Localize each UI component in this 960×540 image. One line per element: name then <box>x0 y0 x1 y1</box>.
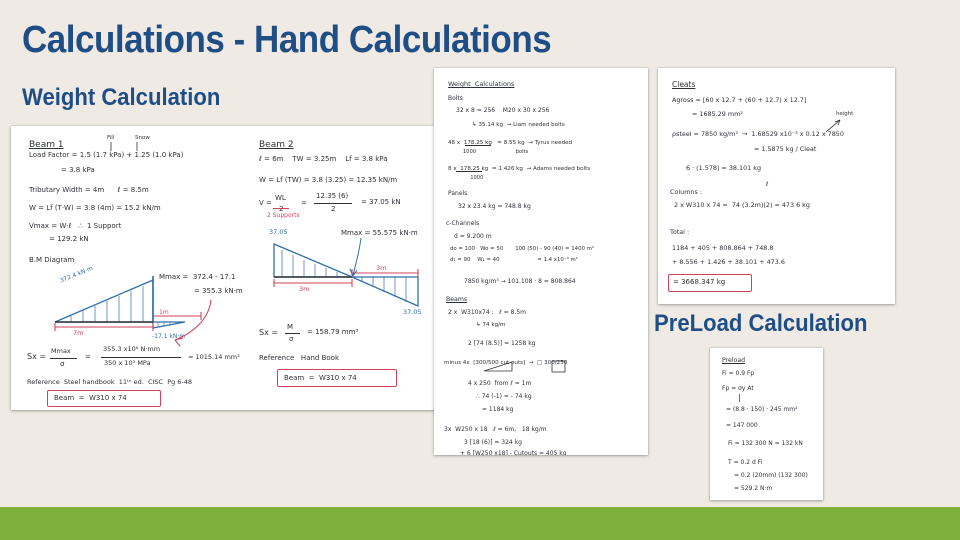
total-line-1: + 8.556 + 1.426 + 38.101 + 473.6 <box>672 258 785 266</box>
weight-bolts-line-5: 1000 <box>457 175 483 181</box>
weight-beams-line-7: 3x W250 x 18 ℓ = 6m, 18 kg/m <box>444 426 547 433</box>
preload-red-marker <box>739 394 740 402</box>
beam2-v-equals: = <box>301 199 307 207</box>
beam1-sx-fraction-bar-2 <box>101 357 181 358</box>
weight-cchannels-title: c-Channels <box>446 220 479 227</box>
beam-calculations-sheet[interactable]: Beam 1 Fill Snow Load Factor = 1.5 (1.7 … <box>11 126 470 410</box>
weight-panels-title: Panels <box>448 190 467 197</box>
total-heading: Total : <box>670 228 689 236</box>
weight-bolts-frac-bar-1 <box>465 145 491 146</box>
section-heading-weight: Weight Calculation <box>22 84 220 112</box>
beam2-boxed-result: Beam = W310 x 74 <box>284 374 357 382</box>
cleats-and-totals-sheet[interactable]: Cleats Agross = [60 x 12.7 + (60 + 12.7)… <box>658 68 895 304</box>
footer-band <box>0 507 960 540</box>
page-title: Calculations - Hand Calculations <box>22 18 551 62</box>
beam1-sx-label: Sx = <box>27 352 46 361</box>
beam2-sx-den: σ <box>289 335 293 343</box>
beam2-sx-label: Sx = <box>259 328 278 337</box>
beam1-sx-num2: 355.3 x10⁶ N·mm <box>103 345 160 353</box>
beam1-annot-fill: Fill <box>107 135 114 141</box>
cleats-line-0: Agross = [60 x 12.7 + (60 + 12.7) x 12.7… <box>672 96 806 104</box>
weight-beams-line-2: 2 [74 (8.5)] = 1258 kg <box>468 340 535 347</box>
beam1-mmax-line-2: = 355.3 kN·m <box>194 287 243 295</box>
weight-bolts-title: Bolts <box>448 95 463 102</box>
preload-line-5: T = 0.2 d Fi <box>728 459 762 466</box>
weight-cutout-shape-icon <box>482 359 578 375</box>
beam2-red-underline <box>273 208 289 209</box>
beam1-mmax-arrow-icon <box>159 296 219 348</box>
weight-cchannels-line-1: do = 100 Wo = 50 100 (50) - 90 (40) = 14… <box>450 246 594 252</box>
preload-line-6: = 0.2 (20mm) (132 300) <box>734 472 808 479</box>
beam2-v-den2: 2 <box>331 205 335 213</box>
preload-line-3: = 147 000 <box>726 422 758 429</box>
preload-line-1: Fp = σy At <box>722 385 754 392</box>
weight-calculations-sheet[interactable]: Weight Calculations Bolts 32 x 8 = 256 M… <box>434 68 648 455</box>
beam2-dim-left: 3m <box>299 285 309 293</box>
beam1-line-1: = 3.8 kPa <box>61 166 95 174</box>
total-boxed-result: = 3668.347 kg <box>673 278 725 286</box>
beam2-v-num2: 12.35 (6) <box>316 192 348 200</box>
cleats-line-1: = 1685.29 mm² <box>692 110 743 118</box>
weight-heading: Weight Calculations <box>448 80 514 88</box>
section-heading-preload: PreLoad Calculation <box>654 310 867 338</box>
beam2-line-1: W = Lf (TW) = 3.8 (3.25) = 12.35 kN/m <box>259 176 397 184</box>
preload-line-7: = 529.2 N·m <box>734 485 772 492</box>
beam1-annot-snow: Snow <box>135 135 150 141</box>
cleats-heading: Cleats <box>672 80 695 89</box>
weight-beams-line-1: ↳ 74 kg/m <box>476 322 506 328</box>
weight-bolts-frac-bar-2 <box>456 171 482 172</box>
beam1-mmax-line-1: Mmax = 372.4 - 17.1 <box>159 273 235 281</box>
weight-panels-line-0: 32 x 23.4 kg = 748.8 kg <box>458 203 531 210</box>
weight-beams-line-6: = 1184 kg <box>482 406 513 413</box>
beam2-dim-right: 3m <box>376 264 386 272</box>
beam2-reference: Reference Hand Book <box>259 354 339 362</box>
columns-annot: ℓ <box>766 181 768 188</box>
weight-beams-title: Beams <box>446 296 467 303</box>
weight-beams-line-9: + 6 [W250 x18] - Cutouts = 405 kg <box>460 450 567 455</box>
columns-heading: Columns : <box>670 188 702 196</box>
beam1-sx-equals: = <box>85 353 91 361</box>
beam1-line-3: W = Lf (T·W) = 3.8 (4m) = 15.2 kN/m <box>29 204 161 212</box>
beam1-bm-diagram-label: B.M Diagram <box>29 256 74 264</box>
beam1-sx-fraction-bar <box>50 358 77 359</box>
beam2-sx-fraction-bar <box>285 333 300 334</box>
beam1-sx-den2: 350 x 10³ MPa <box>104 359 151 367</box>
preload-calculations-sheet[interactable]: Preload Fi = 0.9 Fp Fp = σy At = (8.8 · … <box>710 348 823 500</box>
weight-cchannels-line-3: 7850 kg/m³ → 101.108 · 8 = 808.864 <box>464 278 576 285</box>
weight-cchannels-line-0: d = 9.200 m <box>454 233 492 240</box>
beam2-line-0: ℓ = 6m TW = 3.25m Lf = 3.8 kPa <box>259 155 388 163</box>
weight-cchannels-line-2: d₁ = 90 W₁ = 40 = 1.4 x10⁻³ m² <box>450 257 578 263</box>
beam2-heading: Beam 2 <box>259 140 294 150</box>
weight-beams-line-0: 2 x W310x74 : ℓ = 8.5m <box>448 309 526 316</box>
cleats-line-4: 6 · (1.578) = 38.101 kg <box>686 164 761 172</box>
beam1-heading: Beam 1 <box>29 140 64 150</box>
beam2-v-label: V = <box>259 199 272 207</box>
beam2-mmax-arrow-icon <box>341 236 371 278</box>
preload-line-2: = (8.8 · 150) · 245 mm² <box>726 406 798 413</box>
weight-beams-line-5: ∴ 74 (-1) = - 74 kg <box>476 393 532 400</box>
weight-bolts-line-0: 32 x 8 = 256 M20 x 30 x 256 <box>456 107 549 114</box>
preload-line-0: Fi = 0.9 Fp <box>722 370 754 377</box>
preload-heading: Preload <box>722 357 745 364</box>
beam1-line-5: = 129.2 kN <box>49 235 89 243</box>
preload-line-4: Fi = 132 300 N = 132 kN <box>728 440 803 447</box>
beam1-line-2: Tributary Width = 4m ℓ = 8.5m <box>29 186 149 194</box>
beam2-v-fraction-bar <box>314 203 352 204</box>
weight-bolts-line-1: ↳ 35.14 kg → Liam needed bolts <box>472 122 565 128</box>
beam1-reference: Reference Steel handbook 11ᵗʰ ed. CISC P… <box>27 378 192 386</box>
cleats-line-2: ρsteel = 7850 kg/m³ → 1.68529 x10⁻³ x 0.… <box>672 130 844 138</box>
beam2-v-result: = 37.05 kN <box>361 198 401 206</box>
beam2-sx-result: = 158.79 mm³ <box>307 328 358 336</box>
weight-beams-line-8: 3 [18 (6)] = 324 kg <box>464 439 522 446</box>
beam2-v-num: WL <box>275 194 286 202</box>
cleats-annot-arrow-icon <box>824 118 848 134</box>
beam1-sx-result: = 1015.14 mm³ <box>188 353 240 361</box>
beam2-diagram-label-right: 37.05 <box>403 308 422 316</box>
beam1-diagram-label-span: 7m <box>73 329 83 337</box>
cleats-line-3: = 1.5875 kg / Cleat <box>754 145 816 153</box>
cleats-annot-height: height <box>836 111 853 117</box>
columns-line: 2 x W310 x 74 = 74 (3.2m)(2) = 473.6 kg <box>674 201 810 209</box>
beam1-line-4: Vmax = W·ℓ ∴ 1 Support <box>29 222 121 230</box>
beam1-boxed-result: Beam = W310 x 74 <box>54 394 127 402</box>
weight-beams-line-4: 4 x 250 from ℓ = 1m <box>468 380 531 387</box>
beam2-supports-note: 2 Supports <box>267 212 300 219</box>
beam1-line-0: Load Factor = 1.5 (1.7 kPa) + 1.25 (1.0 … <box>29 151 183 159</box>
beam1-sx-den: σ <box>60 360 64 368</box>
beam1-sx-num: Mmax <box>51 347 71 355</box>
weight-bolts-line-3: 1000 bolts <box>448 149 528 155</box>
beam2-sx-num: M <box>287 323 293 331</box>
total-line-0: 1184 + 405 + 808.864 + 748.8 <box>672 244 773 252</box>
beam2-diagram-label-left: 37.05 <box>269 228 288 236</box>
